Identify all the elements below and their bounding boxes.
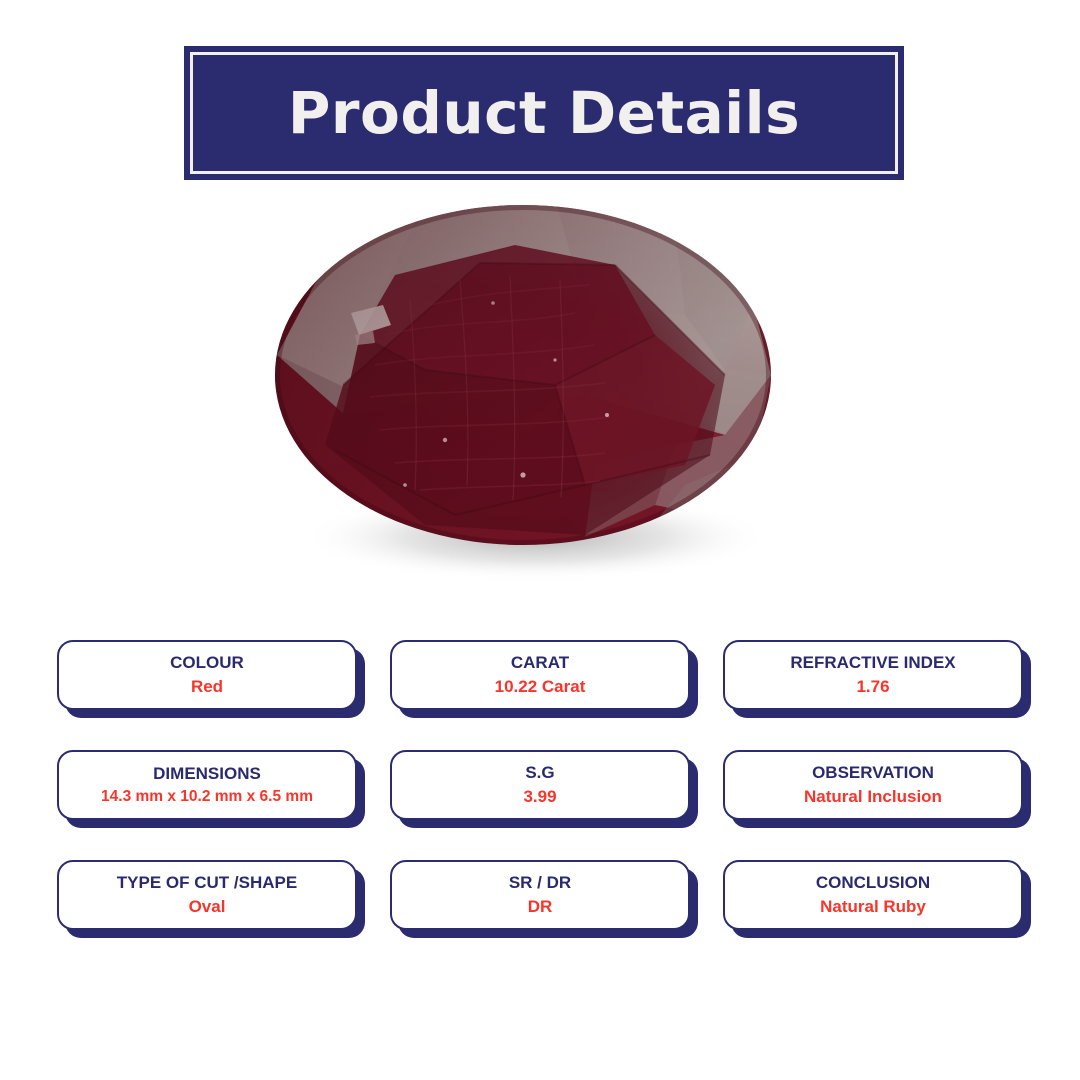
detail-card-refractive-index: REFRACTIVE INDEX 1.76 <box>723 640 1023 710</box>
product-details-grid: COLOUR Red CARAT 10.22 Carat REFRACTIVE … <box>57 640 1023 930</box>
page-header-banner: Product Details <box>184 46 904 180</box>
card-value: Natural Inclusion <box>804 786 942 808</box>
card-value: 14.3 mm x 10.2 mm x 6.5 mm <box>101 787 313 807</box>
detail-card-carat: CARAT 10.22 Carat <box>390 640 690 710</box>
gemstone-photo <box>255 185 825 595</box>
detail-card-dimensions: DIMENSIONS 14.3 mm x 10.2 mm x 6.5 mm <box>57 750 357 820</box>
card-body: OBSERVATION Natural Inclusion <box>723 750 1023 820</box>
card-body: TYPE OF CUT /SHAPE Oval <box>57 860 357 930</box>
card-value: 3.99 <box>523 786 556 808</box>
detail-card-sg: S.G 3.99 <box>390 750 690 820</box>
card-body: CARAT 10.22 Carat <box>390 640 690 710</box>
card-value: 1.76 <box>856 676 889 698</box>
detail-card-colour: COLOUR Red <box>57 640 357 710</box>
card-label: SR / DR <box>509 872 571 893</box>
detail-card-sr-dr: SR / DR DR <box>390 860 690 930</box>
card-value: Red <box>191 676 223 698</box>
detail-card-conclusion: CONCLUSION Natural Ruby <box>723 860 1023 930</box>
page-title: Product Details <box>288 84 800 142</box>
card-label: CONCLUSION <box>816 872 930 893</box>
card-value: DR <box>528 896 553 918</box>
card-body: DIMENSIONS 14.3 mm x 10.2 mm x 6.5 mm <box>57 750 357 820</box>
detail-card-observation: OBSERVATION Natural Inclusion <box>723 750 1023 820</box>
card-value: Oval <box>189 896 226 918</box>
gemstone-image-container <box>255 185 825 595</box>
card-label: COLOUR <box>170 652 244 673</box>
card-value: 10.22 Carat <box>495 676 586 698</box>
card-body: S.G 3.99 <box>390 750 690 820</box>
card-label: CARAT <box>511 652 569 673</box>
card-body: CONCLUSION Natural Ruby <box>723 860 1023 930</box>
card-label: REFRACTIVE INDEX <box>790 652 955 673</box>
card-label: S.G <box>525 762 554 783</box>
card-body: COLOUR Red <box>57 640 357 710</box>
card-label: OBSERVATION <box>812 762 934 783</box>
card-body: SR / DR DR <box>390 860 690 930</box>
card-label: DIMENSIONS <box>153 763 261 784</box>
card-body: REFRACTIVE INDEX 1.76 <box>723 640 1023 710</box>
card-label: TYPE OF CUT /SHAPE <box>117 872 297 893</box>
detail-card-type-of-cut-shape: TYPE OF CUT /SHAPE Oval <box>57 860 357 930</box>
card-value: Natural Ruby <box>820 896 926 918</box>
